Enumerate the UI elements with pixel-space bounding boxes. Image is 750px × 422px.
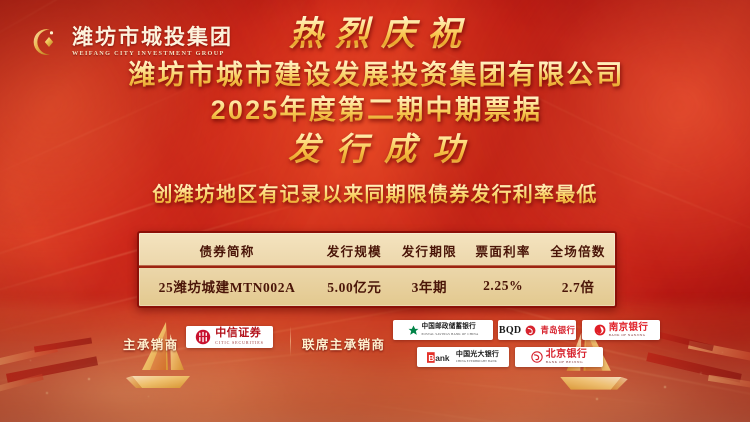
logo-citic-securities: 中信证券 CITIC SECURITIES — [186, 326, 273, 348]
bond-details-table: 债券简称 发行规模 发行期限 票面利率 全场倍数 25潍坊城建MTN002A 5… — [137, 231, 617, 308]
psbc-name-en: POSTAL SAVINGS BANK OF CHINA — [422, 333, 479, 336]
citic-emblem — [195, 329, 211, 345]
joint-underwriters-label: 联席主承销商 — [302, 334, 385, 353]
logo-bank-of-beijing: 北京银行 BANK OF BEIJING — [515, 347, 603, 367]
logo-postal-savings-bank: 中国邮政储蓄银行 POSTAL SAVINGS BANK OF CHINA — [393, 320, 493, 340]
crescent-diamond-emblem — [24, 22, 64, 62]
logo-china-everbright-bank: B ank 中国光大银行 CHINA EVERBRIGHT BANK — [417, 347, 509, 367]
section-divider — [290, 326, 291, 356]
column-header-tenor: 发行期限 — [394, 233, 465, 268]
headline-company: 潍坊市城市建设发展投资集团有限公司 — [0, 58, 750, 93]
headline-success: 发行成功 — [0, 129, 750, 171]
citic-name-en: CITIC SECURITIES — [215, 341, 264, 345]
column-header-coupon: 票面利率 — [465, 233, 541, 268]
company-name-cn: 潍坊市城投集团 — [72, 27, 233, 48]
column-header-bond-name: 债券简称 — [139, 233, 315, 268]
beijing-name-en: BANK OF BEIJING — [546, 361, 583, 364]
cell-coupon: 2.25% — [465, 268, 541, 305]
table-header-row: 债券简称 发行规模 发行期限 票面利率 全场倍数 — [139, 233, 615, 268]
everbright-name-en: CHINA EVERBRIGHT BANK — [456, 360, 497, 363]
postal-savings-emblem — [408, 325, 419, 336]
logo-bank-of-nanjing: 南京银行 BANK OF NANJING — [582, 320, 660, 340]
bqd-name-cn: 青岛银行 — [540, 324, 575, 336]
citic-name-cn: 中信证券 — [215, 328, 261, 339]
cell-bond-name: 25潍坊城建MTN002A — [139, 268, 315, 305]
celebration-poster: 潍坊市城投集团 WEIFANG CITY INVESTMENT GROUP 热烈… — [0, 0, 750, 422]
nanjing-name-cn: 南京银行 — [609, 323, 649, 333]
everbright-name-cn: 中国光大银行 — [456, 351, 499, 358]
cell-tenor: 3年期 — [394, 268, 465, 305]
lead-underwriter-label: 主承销商 — [123, 334, 179, 353]
svg-text:ank: ank — [435, 353, 450, 362]
headline-subtitle: 创潍坊地区有记录以来同期限债券发行利率最低 — [0, 178, 750, 207]
logo-bank-of-qingdao: BQD 青岛银行 — [498, 320, 576, 340]
beijing-name-cn: 北京银行 — [546, 350, 588, 360]
table-row: 25潍坊城建MTN002A 5.00亿元 3年期 2.25% 2.7倍 — [139, 268, 615, 305]
cell-issue-size: 5.00亿元 — [315, 268, 394, 305]
psbc-name-cn: 中国邮政储蓄银行 — [422, 324, 476, 331]
company-name-en: WEIFANG CITY INVESTMENT GROUP — [72, 51, 233, 57]
company-logo: 潍坊市城投集团 WEIFANG CITY INVESTMENT GROUP — [24, 22, 233, 62]
everbright-emblem: B ank — [427, 351, 453, 364]
nanjing-emblem — [594, 324, 606, 336]
headline-instrument: 2025年度第二期中期票据 — [0, 93, 750, 128]
column-header-subscription-multiple: 全场倍数 — [541, 233, 615, 268]
nanjing-name-en: BANK OF NANJING — [609, 334, 646, 337]
cell-subscription-multiple: 2.7倍 — [541, 268, 615, 305]
beijing-emblem — [531, 351, 543, 363]
svg-text:B: B — [428, 353, 434, 362]
column-header-issue-size: 发行规模 — [315, 233, 394, 268]
bqd-emblem — [525, 325, 536, 336]
underwriters-section: 主承销商 中信证券 CITIC SECURITIES 联席主承销商 中 — [0, 320, 750, 378]
bqd-name-en: BQD — [499, 325, 522, 336]
